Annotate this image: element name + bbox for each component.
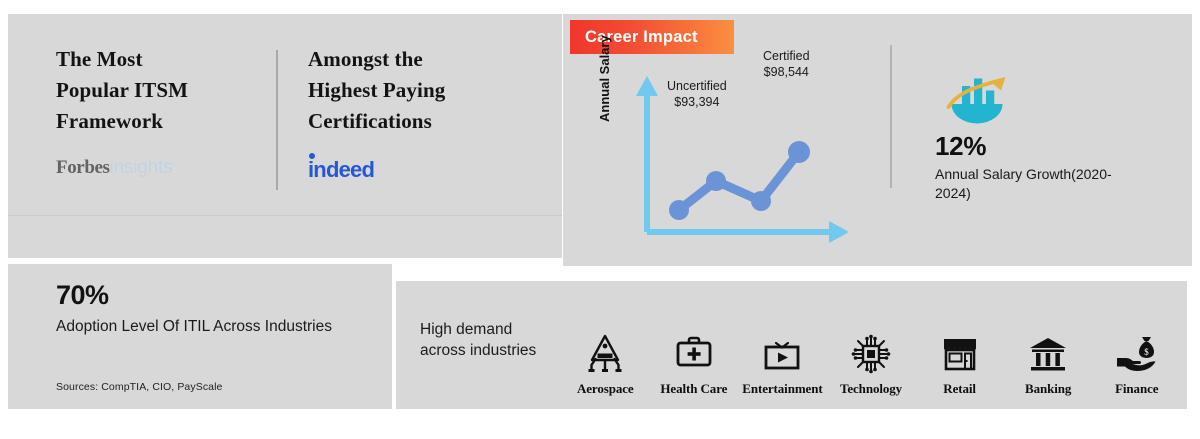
career-impact-panel: Career Impact Annual Salary Uncertified …: [563, 14, 1192, 266]
bar-chart-growth-icon: [941, 74, 1013, 128]
stat-column-certifications: Amongst the Highest Paying Certification…: [308, 44, 538, 183]
chart-y-axis-arrowhead: [636, 76, 658, 96]
industries-demand-panel: High demand across industries Aerospace: [396, 281, 1187, 409]
adoption-description: Adoption Level Of ITIL Across Industries: [56, 316, 356, 338]
chart-data-point: [669, 200, 689, 220]
rocket-lander-icon: [585, 332, 625, 374]
stat-headline-framework-line2: Popular ITSM: [56, 75, 266, 106]
itsm-stats-panel: The Most Popular ITSM Framework Forbesin…: [8, 14, 562, 258]
storefront-icon: [940, 332, 980, 374]
stats-horizontal-divider: [8, 215, 562, 216]
adoption-stat-panel: 70% Adoption Level Of ITIL Across Indust…: [8, 264, 392, 409]
chart-data-point: [751, 191, 771, 211]
chart-annotation-uncertified: Uncertified $93,394: [667, 78, 727, 110]
industry-item-health-care[interactable]: Health Care: [650, 332, 739, 397]
sources-note: Sources: CompTIA, CIO, PayScale: [56, 381, 223, 393]
annual-salary-line-chart: Annual Salary Uncertified $93,394 Certif…: [603, 62, 883, 252]
chart-y-axis-label: Annual Salary: [597, 35, 612, 122]
industries-icon-list: Aerospace Health Care Ent: [561, 307, 1181, 397]
cpu-chip-icon: [851, 332, 891, 374]
indeed-wordmark: indeed: [308, 157, 374, 182]
industry-item-retail[interactable]: Retail: [915, 332, 1004, 397]
career-panel-vertical-divider: [890, 45, 892, 188]
stat-headline-framework-line1: The Most: [56, 44, 266, 75]
chart-data-point: [788, 141, 810, 163]
chart-data-point: [706, 171, 726, 191]
salary-growth-description: Annual Salary Growth(2020-2024): [935, 165, 1145, 203]
salary-growth-block: 12% Annual Salary Growth(2020-2024): [935, 74, 1145, 203]
career-impact-badge: Career Impact: [570, 20, 734, 54]
insights-wordmark: insights: [110, 157, 173, 178]
industry-label-entertainment: Entertainment: [742, 381, 822, 397]
industry-label-retail: Retail: [943, 381, 976, 397]
chart-x-axis-arrowhead: [829, 221, 849, 243]
chart-annotation-certified: Certified $98,544: [763, 48, 810, 80]
industry-label-health-care: Health Care: [660, 381, 727, 397]
industry-item-aerospace[interactable]: Aerospace: [561, 332, 650, 397]
svg-text:$: $: [1144, 347, 1149, 357]
indeed-logo: indeed: [308, 157, 538, 183]
industry-label-finance: Finance: [1115, 381, 1158, 397]
chart-annotation-uncertified-value: $93,394: [667, 94, 727, 110]
hand-money-bag-icon: $: [1115, 332, 1159, 374]
stat-headline-cert-line1: Amongst the: [308, 44, 538, 75]
indeed-dot-icon: [309, 153, 315, 159]
industry-item-banking[interactable]: Banking: [1004, 332, 1093, 397]
stat-headline-framework-line3: Framework: [56, 106, 266, 137]
medical-kit-icon: [674, 332, 714, 374]
forbes-wordmark: Forbes: [56, 157, 110, 178]
chart-svg: [603, 62, 883, 252]
chart-data-line: [679, 152, 799, 210]
stats-vertical-divider: [276, 50, 278, 190]
salary-growth-value: 12%: [935, 131, 1145, 162]
industry-item-entertainment[interactable]: Entertainment: [738, 332, 827, 397]
stat-column-framework: The Most Popular ITSM Framework Forbesin…: [56, 44, 266, 183]
adoption-percentage-value: 70%: [56, 280, 109, 311]
television-play-icon: [762, 332, 802, 374]
chart-annotation-uncertified-label: Uncertified: [667, 78, 727, 94]
chart-annotation-certified-label: Certified: [763, 48, 810, 64]
industry-item-technology[interactable]: Technology: [827, 332, 916, 397]
industries-heading: High demand across industries: [420, 319, 560, 361]
industry-label-technology: Technology: [840, 381, 902, 397]
stat-headline-cert-line2: Highest Paying: [308, 75, 538, 106]
indeed-text: indeed: [308, 157, 374, 182]
stat-headline-cert-line3: Certifications: [308, 106, 538, 137]
forbes-insights-logo: Forbesinsights: [56, 157, 266, 183]
industry-label-aerospace: Aerospace: [577, 381, 634, 397]
chart-annotation-certified-value: $98,544: [763, 64, 810, 80]
industry-item-finance[interactable]: $ Finance: [1092, 332, 1181, 397]
industry-label-banking: Banking: [1025, 381, 1071, 397]
bank-building-icon: [1028, 332, 1068, 374]
